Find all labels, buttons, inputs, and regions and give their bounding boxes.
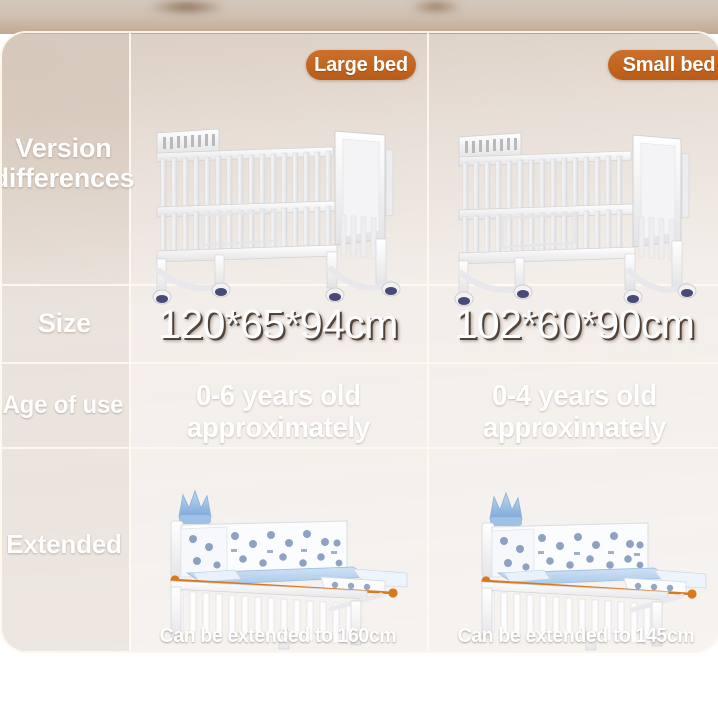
age-value-large-line2: approximately [186,412,369,444]
row-label-version-differences: Version differences [0,133,129,193]
small-crib-photo [445,119,707,311]
age-value-large-line1: 0-6 years old [196,380,361,412]
row-label-extended-text: Extended [6,531,121,558]
comparison-table: Version differences Size 120*65*94cm 102… [0,31,718,653]
badge-small-bed: Small bed [608,50,718,80]
large-crib-photo [145,119,410,311]
extended-caption-large: Can be extended to 160cm [129,621,427,651]
size-value-large-text: 120*65*94cm [158,301,398,348]
badge-large-bed: Large bed [306,50,416,80]
background-top-strip [0,0,718,34]
extended-caption-small-text: Can be extended to 145cm [457,625,694,648]
row-divider-2 [2,362,718,364]
badge-large-bed-label: Large bed [314,54,408,77]
row-label-version-line2: differences [0,163,134,193]
age-value-small-line2: approximately [483,412,666,444]
size-value-large: 120*65*94cm [129,300,427,348]
background-blur-spot-left [148,0,226,14]
extended-caption-large-text: Can be extended to 160cm [160,625,397,648]
product-comparison-image: Version differences Size 120*65*94cm 102… [0,0,718,718]
age-value-small-line1: 0-4 years old [492,380,657,412]
background-blur-spot-right [410,0,462,13]
row-label-age-text: Age of use [3,392,124,418]
row-divider-3 [2,447,718,449]
row-label-extended: Extended [0,523,129,567]
age-value-small: 0-4 years old approximately [427,383,718,443]
size-value-small-text: 102*60*90cm [455,301,695,348]
badge-small-bed-label: Small bed [623,54,716,77]
row-label-version-line1: Version [15,133,111,163]
row-label-size-text: Size [38,309,91,337]
extended-caption-small: Can be extended to 145cm [427,621,718,651]
size-value-small: 102*60*90cm [427,300,718,348]
age-value-large: 0-6 years old approximately [129,383,427,443]
row-label-size: Size [0,299,129,347]
row-label-age-of-use: Age of use [0,385,129,425]
